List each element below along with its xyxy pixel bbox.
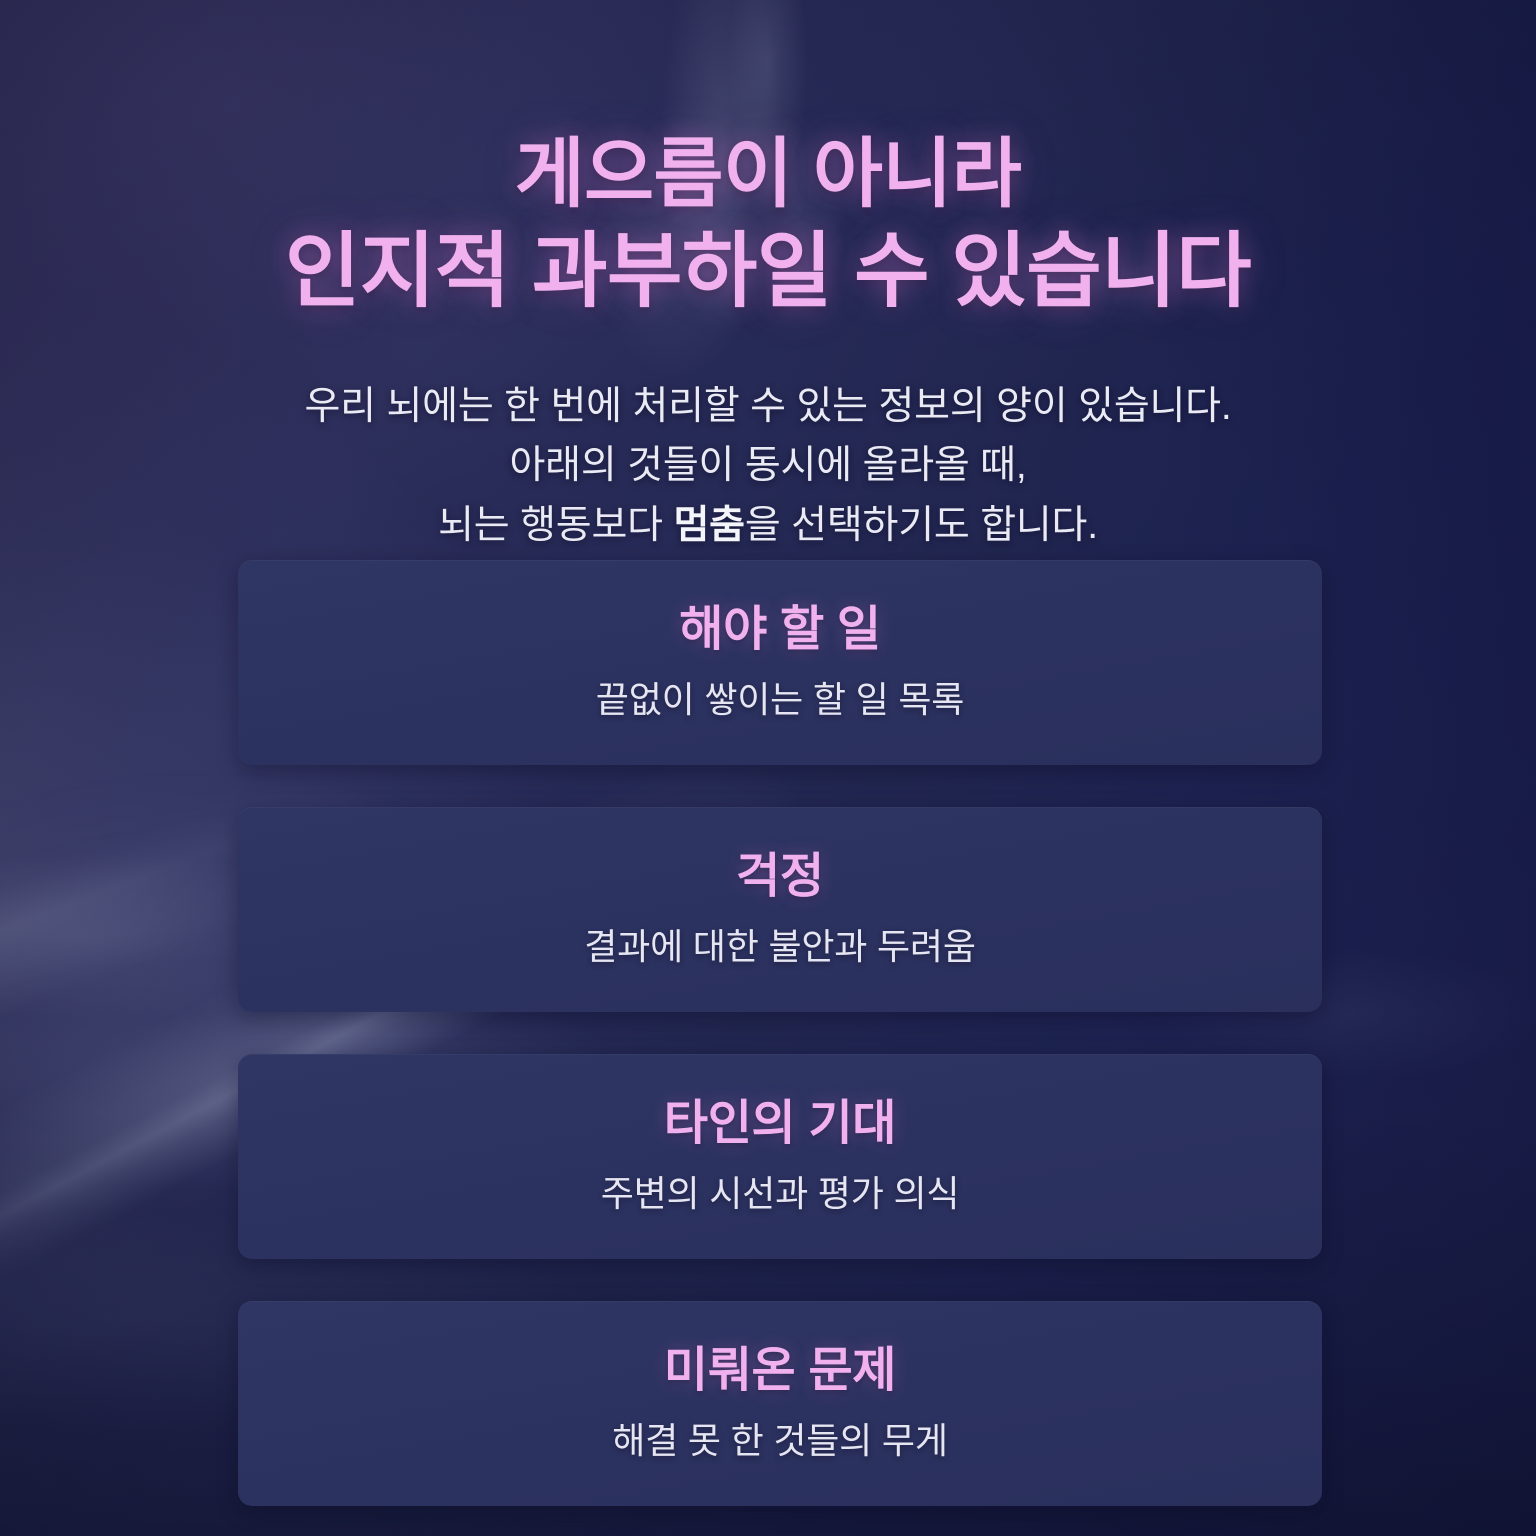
headline-line-2: 인지적 과부하일 수 있습니다: [0, 222, 1536, 322]
card-description: 결과에 대한 불안과 두려움: [584, 925, 976, 968]
overload-factor-card: 미뤄온 문제 해결 못 한 것들의 무게: [238, 1301, 1322, 1506]
card-title: 해야 할 일: [679, 604, 881, 657]
card-title: 타인의 기대: [664, 1098, 896, 1151]
subtitle-line-3-after: 을 선택하기도 합니다.: [745, 504, 1098, 547]
card-description: 해결 못 한 것들의 무게: [612, 1419, 948, 1462]
subtitle-line-3: 뇌는 행동보다 멈춤을 선택하기도 합니다.: [0, 496, 1536, 555]
subtitle-emphasis: 멈춤: [673, 504, 744, 547]
overload-factor-card-list: 해야 할 일 끝없이 쌓이는 할 일 목록 걱정 결과에 대한 불안과 두려움 …: [238, 560, 1322, 1506]
headline-line-1: 게으름이 아니라: [0, 129, 1536, 222]
subtitle-line-1: 우리 뇌에는 한 번에 처리할 수 있는 정보의 양이 있습니다.: [0, 377, 1536, 436]
subtitle-line-2: 아래의 것들이 동시에 올라올 때,: [0, 436, 1536, 495]
card-description: 주변의 시선과 평가 의식: [601, 1172, 960, 1215]
page-title: 게으름이 아니라 인지적 과부하일 수 있습니다: [0, 129, 1536, 322]
card-title: 걱정: [736, 851, 824, 904]
card-title: 미뤄온 문제: [664, 1345, 896, 1398]
overload-factor-card: 해야 할 일 끝없이 쌓이는 할 일 목록: [238, 560, 1322, 765]
overload-factor-card: 타인의 기대 주변의 시선과 평가 의식: [238, 1054, 1322, 1259]
subtitle-line-3-before: 뇌는 행동보다: [438, 504, 673, 547]
subtitle: 우리 뇌에는 한 번에 처리할 수 있는 정보의 양이 있습니다. 아래의 것들…: [0, 377, 1536, 555]
card-description: 끝없이 쌓이는 할 일 목록: [596, 678, 964, 721]
infographic-poster: 게으름이 아니라 인지적 과부하일 수 있습니다 우리 뇌에는 한 번에 처리할…: [0, 0, 1536, 1536]
overload-factor-card: 걱정 결과에 대한 불안과 두려움: [238, 807, 1322, 1012]
poster-content: 게으름이 아니라 인지적 과부하일 수 있습니다 우리 뇌에는 한 번에 처리할…: [0, 0, 1536, 1536]
